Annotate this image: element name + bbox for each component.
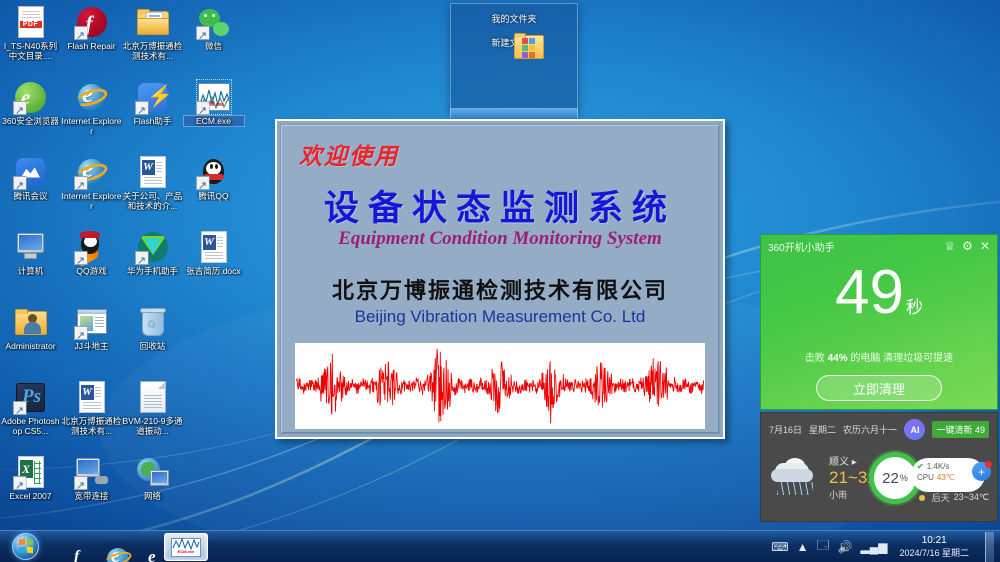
desktop-icon-resume-docx[interactable]: W 张吉简历.docx bbox=[183, 227, 244, 302]
waveform-svg bbox=[296, 344, 704, 428]
weather-body: 顺义 ▸ 21~31 小雨 22% ✔ 1.4K/s CPU 43℃ + 后天 … bbox=[761, 440, 997, 510]
desktop-icon-flash-helper[interactable]: ⚡ Flash助手 bbox=[122, 77, 183, 152]
desktop-icon-label: 腾讯QQ bbox=[184, 191, 244, 201]
desktop-icon-company-doc[interactable]: W 北京万博振通检测技术有... bbox=[61, 377, 122, 452]
ecm-application-icon: ECM.exe bbox=[171, 536, 201, 557]
desktop-icon-ecm-exe[interactable]: ECM.exe ECM.exe bbox=[183, 77, 244, 152]
network-icon bbox=[136, 455, 170, 489]
boot-time-unit: 秒 bbox=[906, 298, 923, 317]
ecm-application-icon: ECM.exe bbox=[197, 80, 231, 114]
360-browser-icon: e bbox=[14, 80, 48, 114]
word-document-icon: W bbox=[197, 230, 231, 264]
show-hidden-icons-icon[interactable]: ▲ bbox=[797, 540, 809, 554]
rain-cloud-icon bbox=[769, 457, 821, 497]
desktop-icon-label: I_TS-N40系列中文目录.... bbox=[1, 41, 61, 61]
desktop-icon-excel-2007[interactable]: X Excel 2007 bbox=[0, 452, 61, 527]
gear-icon[interactable]: ⚙ bbox=[962, 239, 973, 253]
qq-penguin-icon bbox=[197, 155, 231, 189]
ai-badge[interactable]: AI bbox=[904, 419, 925, 440]
desktop-icon-label: 微信 bbox=[184, 41, 244, 51]
plus-icon[interactable]: + bbox=[972, 462, 991, 481]
weather-forecast: 后天 23~34℃ bbox=[916, 491, 989, 504]
desktop-icon-label: Adobe Photoshop CS5... bbox=[1, 416, 61, 436]
forecast-range: 23~34℃ bbox=[954, 492, 989, 503]
desktop-icon-label: 腾讯会议 bbox=[1, 191, 61, 201]
desktop-icon-tencent-qq[interactable]: 腾讯QQ bbox=[183, 152, 244, 227]
weather-city[interactable]: 顺义 ▸ bbox=[829, 453, 877, 468]
desktop-icon-company-folder[interactable]: 北京万博振通检测技术有... bbox=[122, 2, 183, 77]
weather-date: 7月16日 bbox=[769, 423, 802, 436]
subtitle-percent: 44% bbox=[828, 353, 848, 364]
clock-time: 10:21 bbox=[899, 535, 969, 547]
desktop-icon-broadband-connection[interactable]: 宽带连接 bbox=[61, 452, 122, 527]
widget-360-header: 360开机小助手 ♕ ⚙ ✕ bbox=[761, 235, 997, 257]
desktop-icon-jj-landlord[interactable]: JJ斗地主 bbox=[61, 302, 122, 377]
weather-date-bar: 7月16日 星期二 农历六月十一 AI 一键清新 49 bbox=[761, 413, 997, 440]
taskbar-item-flash-repair[interactable]: f bbox=[50, 533, 86, 561]
system-title-english: Equipment Condition Monitoring System bbox=[281, 228, 719, 250]
desktop-icon-label: Internet Explorer bbox=[62, 116, 122, 136]
desktop-icon-qq-game[interactable]: QQ游戏 bbox=[61, 227, 122, 302]
desktop-icon-label: 宽带连接 bbox=[62, 491, 122, 501]
desktop-icon-computer[interactable]: 计算机 bbox=[0, 227, 61, 302]
volume-icon[interactable]: 🔊 bbox=[838, 540, 853, 554]
speed-clean-badge[interactable]: 一键清新 49 bbox=[932, 421, 989, 438]
start-button[interactable] bbox=[2, 532, 48, 562]
desktop-icon-label: 关于公司、产品和技术的介... bbox=[123, 191, 183, 211]
desktop-icon-empty-slot bbox=[183, 377, 244, 452]
desktop-icon-label: Excel 2007 bbox=[1, 491, 61, 501]
cpu-label: CPU bbox=[917, 472, 934, 483]
desktop-icon-empty-slot bbox=[183, 302, 244, 377]
boot-rank-subtitle: 击败 44% 的电脑 清理垃圾可提速 bbox=[761, 349, 997, 364]
desktop-icon-network[interactable]: 网络 bbox=[122, 452, 183, 527]
weather-condition: 小雨 bbox=[829, 488, 877, 501]
desktop-icon-empty-slot bbox=[183, 452, 244, 527]
gauge-unit: % bbox=[900, 473, 908, 483]
network-signal-icon[interactable]: ▂▄▆ bbox=[860, 540, 887, 554]
pdf-document-icon: PDF bbox=[14, 5, 48, 39]
jj-landlord-game-icon bbox=[75, 305, 109, 339]
close-icon[interactable]: ✕ bbox=[980, 239, 990, 253]
taskbar: f e e ECM.exe ⌨ ▲ 🗔 🔊 ▂▄▆ 1 bbox=[0, 530, 1000, 562]
desktop-icon-huawei-assistant[interactable]: 华为手机助手 bbox=[122, 227, 183, 302]
widget-360-title: 360开机小助手 bbox=[768, 239, 835, 254]
taskbar-clock[interactable]: 10:21 2024/7/16 星期二 bbox=[895, 535, 973, 559]
taskbar-item-internet-explorer[interactable]: e bbox=[88, 533, 124, 561]
user-folder-icon bbox=[14, 305, 48, 339]
desktop-icon-label: 回收站 bbox=[123, 341, 183, 351]
internet-explorer-icon: e bbox=[75, 155, 109, 189]
desktop-icon-label: Flash助手 bbox=[123, 116, 183, 126]
file-panel-title: 我的文件夹 bbox=[451, 4, 577, 25]
360-boot-assistant-widget[interactable]: 360开机小助手 ♕ ⚙ ✕ 49秒 击败 44% 的电脑 清理垃圾可提速 立即… bbox=[760, 234, 998, 410]
internet-explorer-icon: e bbox=[75, 80, 109, 114]
desktop-icon-label: 计算机 bbox=[1, 266, 61, 276]
folder-icon bbox=[136, 5, 170, 39]
desktop-icon-label: 北京万博振通检测技术有... bbox=[62, 416, 122, 436]
boot-time-value: 49 bbox=[835, 258, 904, 327]
document-icon bbox=[136, 380, 170, 414]
desktop-icon-label: Internet Explorer bbox=[62, 191, 122, 211]
windows-start-orb-icon bbox=[12, 533, 39, 560]
weather-weekday: 星期二 bbox=[809, 423, 836, 436]
flash-player-icon: f bbox=[75, 5, 109, 39]
company-name-chinese: 北京万博振通检测技术有限公司 bbox=[281, 273, 719, 305]
shirt-icon[interactable]: ♕ bbox=[944, 239, 955, 253]
flash-helper-icon: ⚡ bbox=[136, 80, 170, 114]
desktop-icon-tencent-meeting[interactable]: 腾讯会议 bbox=[0, 152, 61, 227]
vibration-waveform-chart bbox=[295, 343, 705, 429]
check-icon: ✔ bbox=[917, 461, 924, 472]
forecast-label: 后天 bbox=[932, 491, 950, 504]
desktop-icon-photoshop[interactable]: Ps Adobe Photoshop CS5... bbox=[0, 377, 61, 452]
wechat-icon bbox=[197, 5, 231, 39]
desktop-icon-label: QQ游戏 bbox=[62, 266, 122, 276]
keyboard-ime-icon[interactable]: ⌨ bbox=[771, 540, 788, 554]
desktop-icon-label: ECM.exe bbox=[184, 116, 244, 126]
desktop-icon-label: 华为手机助手 bbox=[123, 266, 183, 276]
desktop-icon-label: Administrator bbox=[1, 341, 61, 351]
weather-lunar-date: 农历六月十一 bbox=[843, 423, 897, 436]
boot-time-value-row: 49秒 bbox=[761, 262, 997, 339]
show-desktop-button[interactable] bbox=[985, 532, 994, 562]
file-panel-item-new-folder[interactable]: 新建文件夹 bbox=[451, 33, 577, 49]
cpu-temp-value: 43℃ bbox=[937, 472, 955, 483]
file-panel-window[interactable]: 我的文件夹 新建文件夹 bbox=[450, 3, 578, 115]
clock-date: 2024/7/16 星期二 bbox=[899, 547, 969, 559]
desktop-icon-internet-explorer-2[interactable]: e Internet Explorer bbox=[61, 152, 122, 227]
splash-inner-panel: 欢迎使用 设备状态监测系统 Equipment Condition Monito… bbox=[280, 124, 720, 434]
network-speed-value: 1.4K/s bbox=[927, 461, 950, 472]
taskbar-item-ecm-application[interactable]: ECM.exe bbox=[164, 533, 208, 561]
word-document-icon: W bbox=[75, 380, 109, 414]
desktop-icon-label: Flash Repair bbox=[62, 41, 122, 51]
desktop-icon-wechat[interactable]: 微信 bbox=[183, 2, 244, 77]
tencent-meeting-icon bbox=[14, 155, 48, 189]
splash-window[interactable]: 欢迎使用 设备状态监测系统 Equipment Condition Monito… bbox=[275, 119, 725, 439]
huawei-phone-assistant-icon bbox=[136, 230, 170, 264]
network-speed-row: ✔ 1.4K/s bbox=[917, 461, 979, 472]
welcome-text: 欢迎使用 bbox=[299, 137, 399, 171]
broadband-connection-icon bbox=[75, 455, 109, 489]
sun-icon bbox=[916, 492, 928, 504]
system-tray: ⌨ ▲ 🗔 🔊 ▂▄▆ 10:21 2024/7/16 星期二 bbox=[771, 532, 1000, 562]
cpu-temp-row: CPU 43℃ bbox=[917, 472, 979, 483]
subtitle-suffix: 的电脑 清理垃圾可提速 bbox=[850, 353, 953, 364]
desktop-icon-360-browser[interactable]: e 360安全浏览器 bbox=[0, 77, 61, 152]
desktop-icon-pdf-catalog[interactable]: PDF I_TS-N40系列中文目录.... bbox=[0, 2, 61, 77]
desktop-icon-bvm-210-doc[interactable]: BVM-210-9多通道振动... bbox=[122, 377, 183, 452]
desktop-icon-flash-repair[interactable]: f Flash Repair bbox=[61, 2, 122, 77]
recycle-bin-icon: ♲ bbox=[136, 305, 170, 339]
word-document-icon: W bbox=[136, 155, 170, 189]
subtitle-prefix: 击败 bbox=[805, 353, 825, 364]
desktop-icon-company-intro-doc[interactable]: W 关于公司、产品和技术的介... bbox=[122, 152, 183, 227]
desktop-icon-label: JJ斗地主 bbox=[62, 341, 122, 351]
action-center-icon[interactable]: 🗔 bbox=[817, 536, 830, 557]
weather-system-widget[interactable]: 7月16日 星期二 农历六月十一 AI 一键清新 49 顺义 ▸ 21~31 小… bbox=[760, 412, 998, 522]
excel-icon: X bbox=[14, 455, 48, 489]
desktop-icon-administrator[interactable]: Administrator bbox=[0, 302, 61, 377]
desktop-icon-label: BVM-210-9多通道振动... bbox=[123, 416, 183, 436]
desktop-icon-label: 网络 bbox=[123, 491, 183, 501]
desktop-icon-label: 张吉简历.docx bbox=[184, 266, 244, 276]
desktop-icon-label: 360安全浏览器 bbox=[1, 116, 61, 126]
qq-game-icon bbox=[75, 230, 109, 264]
computer-icon bbox=[14, 230, 48, 264]
system-title-chinese: 设备状态监测系统 bbox=[281, 180, 719, 231]
desktop-icon-grid: PDF I_TS-N40系列中文目录.... f Flash Repair 北京… bbox=[0, 2, 244, 532]
clean-now-button[interactable]: 立即清理 bbox=[816, 375, 942, 401]
desktop-icon-label: 北京万博振通检测技术有... bbox=[123, 41, 183, 61]
desktop-icon-recycle-bin[interactable]: ♲ 回收站 bbox=[122, 302, 183, 377]
photoshop-icon: Ps bbox=[14, 380, 48, 414]
gauge-value: 22 bbox=[882, 470, 899, 487]
desktop-icon-internet-explorer[interactable]: e Internet Explorer bbox=[61, 77, 122, 152]
company-name-english: Beijing Vibration Measurement Co. Ltd bbox=[281, 307, 719, 327]
